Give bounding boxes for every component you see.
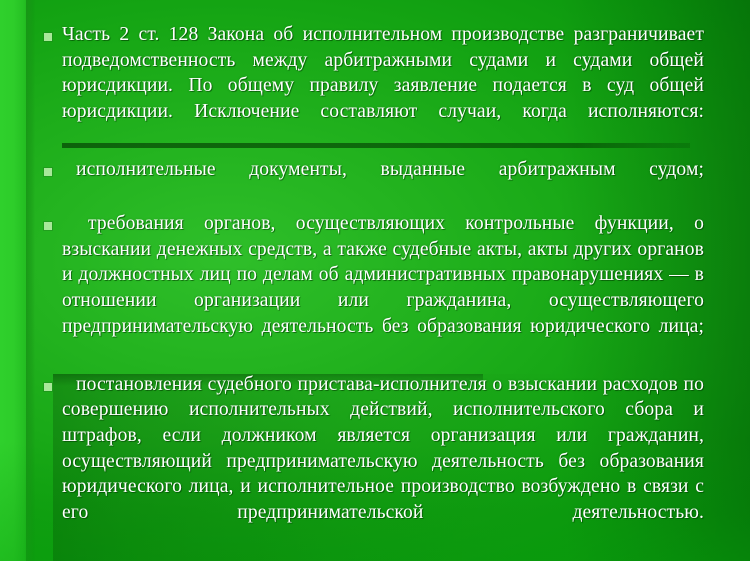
square-bullet-icon bbox=[44, 168, 52, 176]
list-item-text: Часть 2 ст. 128 Закона об исполнительном… bbox=[62, 22, 704, 150]
square-bullet-icon bbox=[44, 383, 52, 391]
list-item: постановления судебного пристава-исполни… bbox=[40, 372, 704, 551]
list-item-text: требования органов, осуществляющих контр… bbox=[62, 211, 704, 365]
list-item: исполнительные документы, выданные арбит… bbox=[40, 157, 704, 208]
list-item: требования органов, осуществляющих контр… bbox=[40, 211, 704, 365]
slide-content-body: Часть 2 ст. 128 Закона об исполнительном… bbox=[0, 0, 750, 561]
list-item: Часть 2 ст. 128 Закона об исполнительном… bbox=[40, 22, 704, 150]
list-item-text: постановления судебного пристава-исполни… bbox=[62, 372, 704, 551]
list-item-text: исполнительные документы, выданные арбит… bbox=[62, 157, 704, 208]
square-bullet-icon bbox=[44, 33, 52, 41]
square-bullet-icon bbox=[44, 222, 52, 230]
presentation-slide: Часть 2 ст. 128 Закона об исполнительном… bbox=[0, 0, 750, 561]
